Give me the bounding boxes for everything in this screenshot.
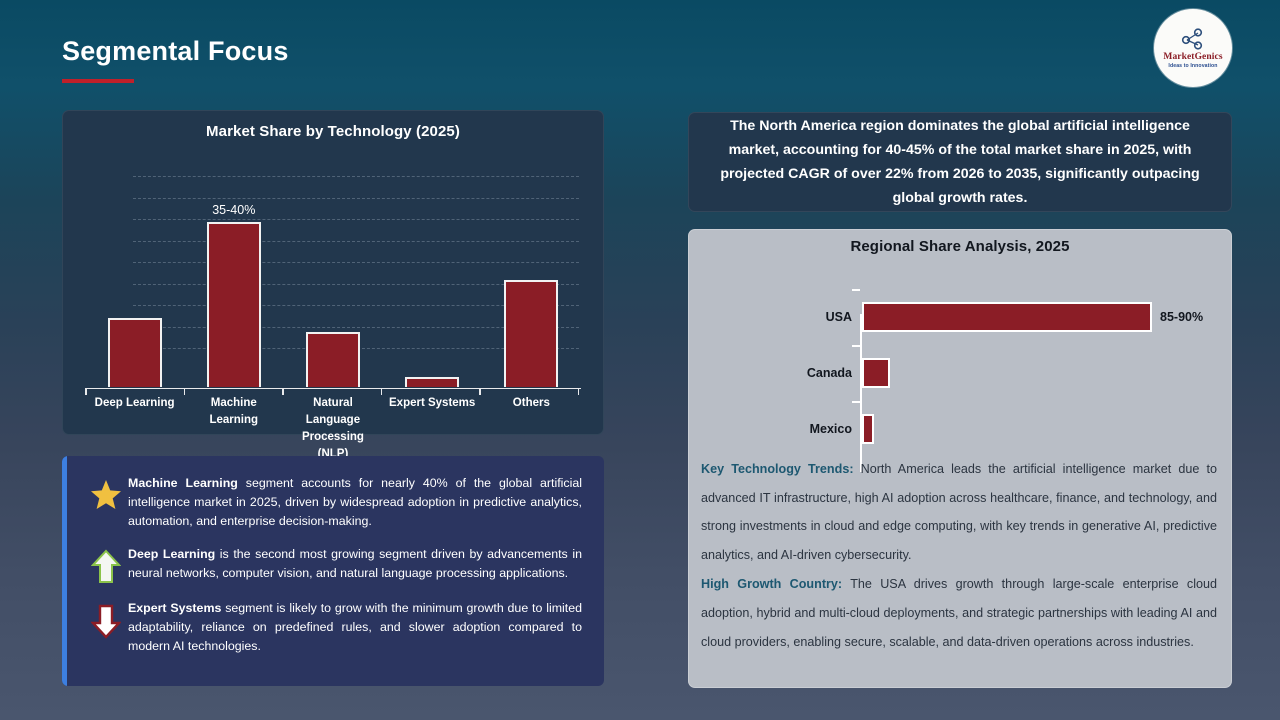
callout-text: The North America region dominates the g… [703, 114, 1217, 210]
x-axis-labels: Deep LearningMachine LearningNatural Lan… [85, 391, 581, 431]
bar[interactable] [405, 377, 459, 387]
insight-row: Expert Systems segment is likely to grow… [84, 599, 588, 656]
title-underline [62, 79, 134, 83]
region-paragraph-lead: Key Technology Trends: [701, 462, 854, 476]
y-axis-label: Canada [689, 366, 862, 380]
header: Segmental Focus [62, 36, 289, 83]
horizontal-bar-row[interactable]: Canada [689, 353, 1231, 393]
regional-text-body: Key Technology Trends: North America lea… [689, 455, 1231, 657]
x-axis-label: Expert Systems [385, 391, 479, 431]
x-axis-label: Machine Learning [187, 391, 281, 431]
network-nodes-icon [1178, 27, 1208, 51]
bar-slot[interactable] [388, 197, 477, 387]
callout-panel: The North America region dominates the g… [688, 112, 1232, 212]
logo-tagline: Ideas to Innovation [1168, 63, 1217, 69]
brand-logo: MarketGenics Ideas to Innovation [1154, 9, 1232, 87]
regional-chart-title: Regional Share Analysis, 2025 [689, 238, 1231, 255]
region-paragraph: High Growth Country: The USA drives grow… [701, 570, 1217, 656]
bar-value-label: 35-40% [212, 203, 255, 217]
insight-row: Deep Learning is the second most growing… [84, 545, 588, 585]
market-share-chart-panel: Market Share by Technology (2025) 35-40%… [62, 110, 604, 435]
y-axis-label: USA [689, 310, 862, 324]
bar[interactable] [108, 318, 162, 387]
bar-chart-plot: 35-40% Deep LearningMachine LearningNatu… [75, 166, 593, 431]
y-axis-tick [852, 345, 860, 347]
regional-analysis-panel: Regional Share Analysis, 2025 USA85-90%C… [688, 229, 1232, 688]
bar[interactable] [306, 332, 360, 387]
insight-text: Deep Learning is the second most growing… [128, 545, 588, 583]
x-axis-label: Natural Language Processing (NLP) [286, 391, 380, 431]
x-axis-line [85, 388, 581, 390]
bar-slot[interactable] [90, 197, 179, 387]
insight-term: Deep Learning [128, 547, 215, 561]
x-axis-label: Deep Learning [87, 391, 181, 431]
horizontal-bar[interactable] [862, 358, 890, 388]
chart-title: Market Share by Technology (2025) [63, 123, 603, 140]
bar[interactable] [504, 280, 558, 387]
region-paragraph: Key Technology Trends: North America lea… [701, 455, 1217, 569]
y-axis-tick [852, 401, 860, 403]
arrow-up-icon [84, 545, 128, 585]
insight-term: Machine Learning [128, 476, 238, 490]
bar[interactable] [207, 222, 261, 387]
bar-slot[interactable] [487, 197, 576, 387]
region-paragraph-lead: High Growth Country: [701, 577, 842, 591]
bar-series: 35-40% [85, 197, 581, 387]
arrow-down-icon [84, 599, 128, 639]
bar-slot[interactable]: 35-40% [189, 197, 278, 387]
insight-text: Machine Learning segment accounts for ne… [128, 474, 588, 531]
insight-term: Expert Systems [128, 601, 221, 615]
horizontal-bar[interactable] [862, 414, 874, 444]
insights-panel: Machine Learning segment accounts for ne… [62, 456, 604, 686]
x-axis-label: Others [484, 391, 578, 431]
insights-accent-bar [62, 456, 67, 686]
horizontal-bar-row[interactable]: USA85-90% [689, 297, 1231, 337]
insights-list: Machine Learning segment accounts for ne… [62, 456, 604, 680]
y-axis-label: Mexico [689, 422, 862, 436]
horizontal-bar-series: USA85-90%CanadaMexico [689, 272, 1231, 432]
logo-name: MarketGenics [1163, 52, 1222, 62]
insight-row: Machine Learning segment accounts for ne… [84, 474, 588, 531]
y-axis-tick [852, 289, 860, 291]
horizontal-bar[interactable] [862, 302, 1152, 332]
insight-text: Expert Systems segment is likely to grow… [128, 599, 588, 656]
horizontal-bar-row[interactable]: Mexico [689, 409, 1231, 449]
bar-slot[interactable] [288, 197, 377, 387]
horizontal-bar-value: 85-90% [1160, 310, 1203, 324]
page-title: Segmental Focus [62, 36, 289, 67]
star-icon [84, 474, 128, 512]
gridline [133, 176, 579, 177]
